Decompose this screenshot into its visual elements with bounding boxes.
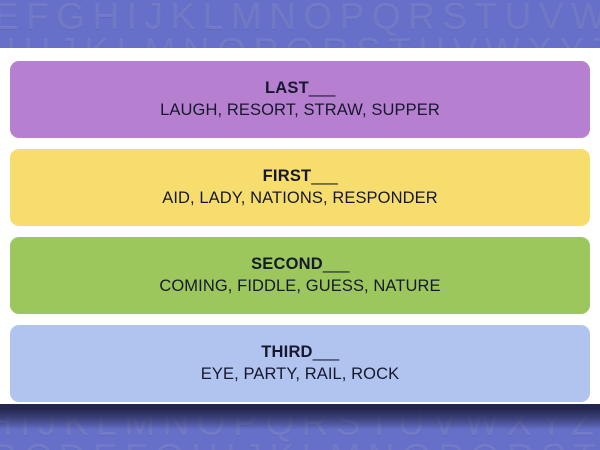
category-card-last[interactable]: LAST___ LAUGH, RESORT, STRAW, SUPPER xyxy=(10,61,590,138)
decorative-letter-band-bottom: HIJKLMNOPQRSTUVWXYZABCD ABCDEFGHIJKLMNOP… xyxy=(0,404,600,450)
category-title-word: LAST xyxy=(265,79,309,97)
category-card-second[interactable]: SECOND___ COMING, FIDDLE, GUESS, NATURE xyxy=(10,237,590,314)
category-title-word: THIRD xyxy=(261,343,312,361)
puzzle-solution-screen: EFGHIJKLMNOPQRSTUVWXYZAB GHIJKLMNOPQRSTU… xyxy=(0,0,600,450)
category-title-blank: ___ xyxy=(323,255,349,273)
decorative-letter-row: HIJKLMNOPQRSTUVWXYZABCD xyxy=(0,404,600,441)
category-title-blank: ___ xyxy=(313,343,339,361)
category-words-first: AID, LADY, NATIONS, RESPONDER xyxy=(162,189,438,208)
category-title-third: THIRD___ xyxy=(261,343,338,362)
decorative-letter-row: EFGHIJKLMNOPQRSTUVWXYZAB xyxy=(0,0,600,35)
category-card-list: LAST___ LAUGH, RESORT, STRAW, SUPPER FIR… xyxy=(0,48,600,404)
category-words-second: COMING, FIDDLE, GUESS, NATURE xyxy=(159,277,440,296)
category-title-blank: ___ xyxy=(309,79,335,97)
category-words-third: EYE, PARTY, RAIL, ROCK xyxy=(201,365,399,384)
category-words-last: LAUGH, RESORT, STRAW, SUPPER xyxy=(160,101,440,120)
category-title-word: SECOND xyxy=(251,255,323,273)
decorative-letter-row: ABCDEFGHIJKLMNOPQRSTUVW xyxy=(0,439,600,450)
category-title-word: FIRST xyxy=(263,167,312,185)
category-title-blank: ___ xyxy=(311,167,337,185)
category-card-third[interactable]: THIRD___ EYE, PARTY, RAIL, ROCK xyxy=(10,325,590,402)
decorative-letter-row: GHIJKLMNOPQRSTUVWXYZABC xyxy=(0,33,600,48)
decorative-letter-band-top: EFGHIJKLMNOPQRSTUVWXYZAB GHIJKLMNOPQRSTU… xyxy=(0,0,600,48)
category-card-first[interactable]: FIRST___ AID, LADY, NATIONS, RESPONDER xyxy=(10,149,590,226)
category-title-last: LAST___ xyxy=(265,79,335,98)
category-title-second: SECOND___ xyxy=(251,255,349,274)
category-title-first: FIRST___ xyxy=(263,167,338,186)
